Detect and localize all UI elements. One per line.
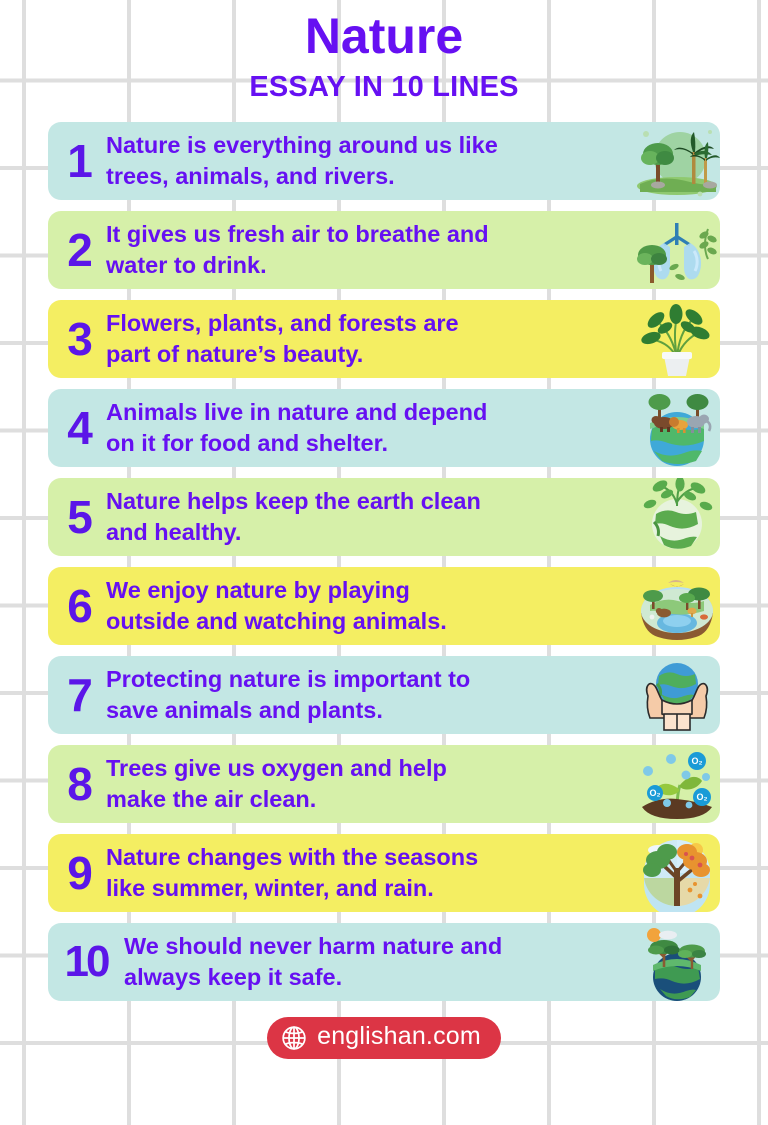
essay-line-row: 8Trees give us oxygen and helpmake the a… xyxy=(48,745,720,823)
line-text: Nature is everything around us liketrees… xyxy=(106,130,634,192)
line-text-second: and healthy. xyxy=(106,517,630,548)
svg-text:O₂: O₂ xyxy=(650,788,661,798)
line-number: 1 xyxy=(48,138,106,184)
globe-icon xyxy=(281,1025,307,1051)
trees-on-earth-icon xyxy=(634,923,720,1001)
line-text: We should never harm nature andalways ke… xyxy=(124,931,634,993)
essay-lines-list: 1Nature is everything around us liketree… xyxy=(0,122,768,1001)
essay-line-row: 6We enjoy nature by playingoutside and w… xyxy=(48,567,720,645)
line-number: 9 xyxy=(48,850,106,896)
four-seasons-tree-icon xyxy=(634,834,720,912)
line-text: Animals live in nature and dependon it f… xyxy=(106,397,634,459)
hands-holding-earth-icon xyxy=(634,656,720,734)
essay-line-row: 1Nature is everything around us liketree… xyxy=(48,122,720,200)
line-text-second: always keep it safe. xyxy=(124,962,630,993)
line-text-first: It gives us fresh air to breathe and xyxy=(106,219,630,250)
line-number: 8 xyxy=(48,761,106,807)
line-text-second: like summer, winter, and rain. xyxy=(106,873,630,904)
essay-line-row: 3Flowers, plants, and forests arepart of… xyxy=(48,300,720,378)
line-text-first: Protecting nature is important to xyxy=(106,664,630,695)
line-number: 4 xyxy=(48,405,106,451)
website-badge[interactable]: englishan.com xyxy=(267,1017,501,1059)
line-text-first: We enjoy nature by playing xyxy=(106,575,630,606)
line-text: Flowers, plants, and forests arepart of … xyxy=(106,308,634,370)
essay-line-row: 7Protecting nature is important tosave a… xyxy=(48,656,720,734)
line-text-second: outside and watching animals. xyxy=(106,606,630,637)
line-number: 10 xyxy=(48,940,124,984)
line-number: 7 xyxy=(48,672,106,718)
wildlife-pond-icon xyxy=(634,567,720,645)
line-text-second: part of nature’s beauty. xyxy=(106,339,630,370)
website-label: englishan.com xyxy=(317,1024,481,1051)
potted-plant-icon xyxy=(634,300,720,378)
line-text: We enjoy nature by playingoutside and wa… xyxy=(106,575,634,637)
line-text: It gives us fresh air to breathe andwate… xyxy=(106,219,634,281)
svg-text:O₂: O₂ xyxy=(692,756,703,766)
header: Nature ESSAY IN 10 LINES xyxy=(0,0,768,104)
line-text-second: trees, animals, and rivers. xyxy=(106,161,630,192)
page-subtitle: ESSAY IN 10 LINES xyxy=(0,63,768,104)
essay-line-row: 9Nature changes with the seasonslike sum… xyxy=(48,834,720,912)
line-text: Trees give us oxygen and helpmake the ai… xyxy=(106,753,634,815)
forest-landscape-icon xyxy=(634,122,720,200)
line-text-first: Animals live in nature and depend xyxy=(106,397,630,428)
line-text: Protecting nature is important tosave an… xyxy=(106,664,634,726)
green-earth-icon xyxy=(634,478,720,556)
essay-line-row: 4Animals live in nature and dependon it … xyxy=(48,389,720,467)
essay-line-row: 2It gives us fresh air to breathe andwat… xyxy=(48,211,720,289)
line-number: 3 xyxy=(48,316,106,362)
line-text-first: Trees give us oxygen and help xyxy=(106,753,630,784)
essay-line-row: 5Nature helps keep the earth cleanand he… xyxy=(48,478,720,556)
page-title: Nature xyxy=(0,0,768,63)
line-text-second: water to drink. xyxy=(106,250,630,281)
line-text-first: Flowers, plants, and forests are xyxy=(106,308,630,339)
svg-text:O₂: O₂ xyxy=(697,792,708,802)
seedling-oxygen-icon: O₂O₂O₂ xyxy=(634,745,720,823)
line-text-first: Nature is everything around us like xyxy=(106,130,630,161)
infographic-page: Nature ESSAY IN 10 LINES 1Nature is ever… xyxy=(0,0,768,1125)
lungs-tree-icon xyxy=(634,211,720,289)
line-text-second: make the air clean. xyxy=(106,784,630,815)
line-text-second: save animals and plants. xyxy=(106,695,630,726)
line-number: 2 xyxy=(48,227,106,273)
line-text-first: Nature changes with the seasons xyxy=(106,842,630,873)
footer: englishan.com xyxy=(0,1017,768,1059)
essay-line-row: 10We should never harm nature andalways … xyxy=(48,923,720,1001)
line-text-first: We should never harm nature and xyxy=(124,931,630,962)
line-text: Nature helps keep the earth cleanand hea… xyxy=(106,486,634,548)
line-number: 6 xyxy=(48,583,106,629)
line-text-second: on it for food and shelter. xyxy=(106,428,630,459)
line-text: Nature changes with the seasonslike summ… xyxy=(106,842,634,904)
line-number: 5 xyxy=(48,494,106,540)
line-text-first: Nature helps keep the earth clean xyxy=(106,486,630,517)
animals-on-earth-icon xyxy=(634,389,720,467)
